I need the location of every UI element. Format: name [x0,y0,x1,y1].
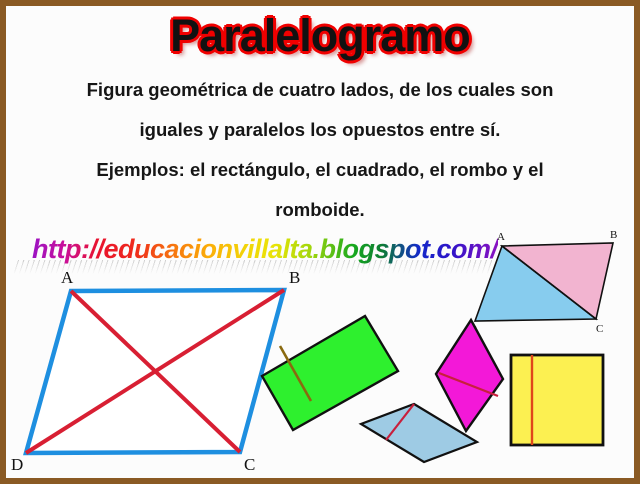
main-vertex-label-A: A [61,268,74,287]
small-parallelogram-group: A B C D [469,229,617,335]
main-vertex-label-C: C [244,455,255,474]
square-yellow-body [511,355,603,445]
main-vertex-label-D: D [11,455,23,474]
shape-rectangle-green [262,316,398,430]
small-vertex-label-A: A [497,231,505,243]
rectangle-green-body [262,316,398,430]
shape-square-yellow [511,355,603,445]
poster: Paralelogramo Figura geométrica de cuatr… [0,0,640,484]
main-parallelogram-group: A B C D [11,268,300,474]
small-vertex-label-B: B [610,229,617,241]
main-vertex-label-B: B [289,268,300,287]
figures-layer: A B C D A B C D [6,6,634,478]
small-vertex-label-C: C [596,323,603,335]
poster-inner: Paralelogramo Figura geométrica de cuatr… [6,6,634,478]
shape-rhombus-magenta [436,320,503,431]
